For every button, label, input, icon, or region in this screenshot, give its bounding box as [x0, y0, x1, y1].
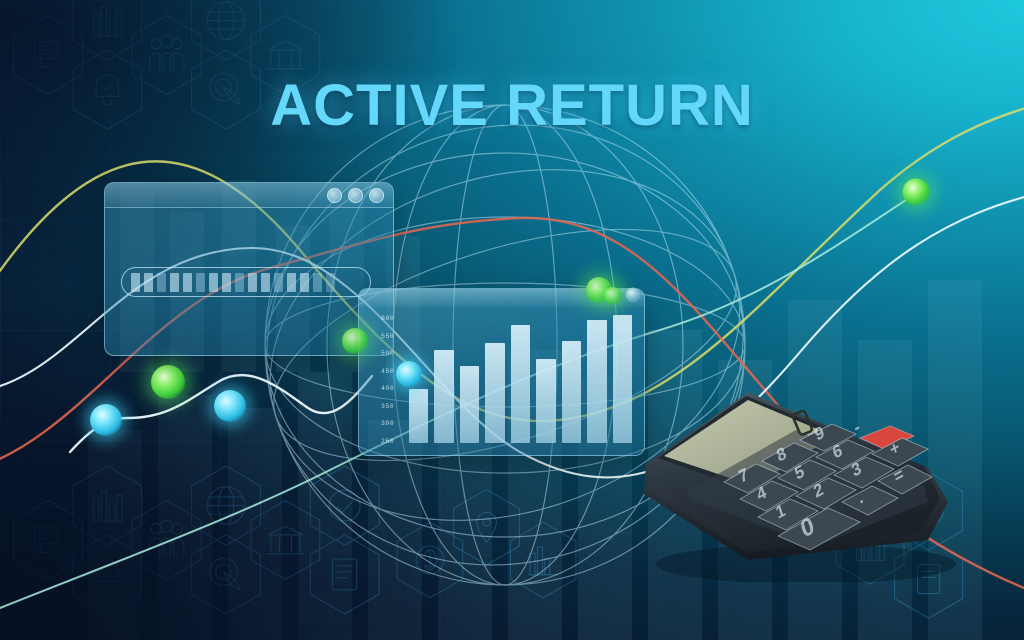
chart-node-dim[interactable]: [626, 288, 641, 303]
y-tick: 600: [381, 315, 394, 322]
side-node-green[interactable]: [342, 328, 368, 354]
y-tick: 250: [381, 438, 394, 445]
window-dot-2-icon[interactable]: [348, 188, 363, 203]
page-title: ACTIVE RETURN: [0, 72, 1024, 139]
progress-bar[interactable]: [121, 267, 371, 297]
window-dot-3-icon[interactable]: [369, 188, 384, 203]
hero-banner: 600 550 500 450 400 350 300 250: [0, 0, 1024, 640]
calculator[interactable]: 7 8 9 4 5 6 1 2 3 0 . = + -: [628, 382, 968, 582]
window-title-bar: [105, 183, 393, 208]
y-tick: 500: [381, 350, 394, 357]
data-node-2[interactable]: [151, 365, 185, 399]
window-controls[interactable]: [327, 188, 384, 203]
bar-series: [409, 315, 632, 443]
window-dot-1-icon[interactable]: [327, 188, 342, 203]
bar-7: [562, 341, 581, 443]
data-node-1[interactable]: [90, 404, 122, 436]
bar-4: [485, 343, 504, 443]
y-tick: 300: [381, 420, 394, 427]
y-tick: 400: [381, 385, 394, 392]
rising-node-green[interactable]: [903, 179, 930, 206]
bar-2: [434, 350, 453, 443]
data-node-3[interactable]: [214, 390, 246, 422]
y-axis-ticks: 600 550 500 450 400 350 300 250: [381, 315, 394, 445]
y-tick: 450: [381, 368, 394, 375]
y-tick: 350: [381, 403, 394, 410]
bar-6: [536, 359, 555, 443]
bar-1: [409, 389, 428, 443]
bar-8: [587, 320, 606, 443]
bar-5: [511, 325, 530, 443]
chart-node-green-2[interactable]: [604, 287, 622, 305]
y-tick: 550: [381, 333, 394, 340]
bar-3: [460, 366, 479, 443]
side-node-cyan[interactable]: [396, 361, 422, 387]
